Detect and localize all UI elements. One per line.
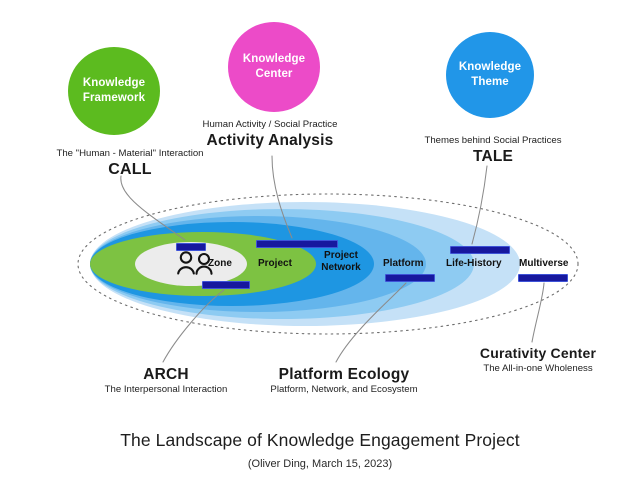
- connector-bar-multiverse[interactable]: [518, 274, 568, 282]
- connector-bar-platform[interactable]: [385, 274, 435, 282]
- zone-label-project-network: Project Network: [314, 250, 368, 273]
- callout-activity-analysis: Human Activity / Social Practice Activit…: [196, 119, 344, 151]
- callout-tale: Themes behind Social Practices TALE: [412, 135, 574, 167]
- bubble-label-line2: Theme: [471, 75, 509, 90]
- zone-label-zone: Zone: [208, 258, 232, 270]
- connector-bar-arch[interactable]: [202, 281, 250, 289]
- figure-credit: (Oliver Ding, March 15, 2023): [0, 458, 640, 470]
- callout-tale-title: TALE: [412, 147, 574, 166]
- callout-arch-title: ARCH: [92, 365, 240, 384]
- bubble-label-line1: Knowledge: [243, 52, 305, 67]
- bubble-label-line2: Framework: [83, 91, 145, 106]
- bubble-knowledge-center[interactable]: Knowledge Center: [228, 22, 320, 112]
- diagram-canvas: Knowledge Framework Knowledge Center Kno…: [0, 0, 640, 495]
- bubble-knowledge-framework[interactable]: Knowledge Framework: [68, 47, 160, 135]
- callout-arch-subtitle: The Interpersonal Interaction: [92, 384, 240, 396]
- connector-bar-call[interactable]: [176, 243, 206, 251]
- zone-label-project: Project: [258, 258, 292, 270]
- callout-platform-subtitle: Platform, Network, and Ecosystem: [262, 384, 426, 396]
- bubble-label-line1: Knowledge: [83, 76, 145, 91]
- callout-curativity-subtitle: The All-in-one Wholeness: [456, 363, 620, 375]
- callout-activity-subtitle: Human Activity / Social Practice: [196, 119, 344, 131]
- bubble-label-line2: Center: [255, 67, 292, 82]
- callout-activity-title: Activity Analysis: [196, 131, 344, 150]
- leader-line-curativity: [532, 283, 544, 342]
- callout-call-subtitle: The "Human - Material" Interaction: [42, 148, 218, 160]
- callout-platform-ecology: Platform Ecology Platform, Network, and …: [262, 365, 426, 397]
- callout-tale-subtitle: Themes behind Social Practices: [412, 135, 574, 147]
- figure-caption: The Landscape of Knowledge Engagement Pr…: [0, 430, 640, 470]
- callout-curativity-title: Curativity Center: [456, 345, 620, 363]
- callout-call: The "Human - Material" Interaction CALL: [42, 148, 218, 180]
- connector-bar-activity[interactable]: [256, 240, 338, 248]
- connector-bar-tale[interactable]: [450, 246, 510, 254]
- callout-curativity-center: Curativity Center The All-in-one Wholene…: [456, 345, 620, 375]
- zone-label-platform: Platform: [383, 258, 424, 270]
- figure-title: The Landscape of Knowledge Engagement Pr…: [0, 430, 640, 451]
- bubble-label-line1: Knowledge: [459, 60, 521, 75]
- zone-label-life-history: Life-History: [446, 258, 502, 270]
- callout-platform-title: Platform Ecology: [262, 365, 426, 384]
- zone-label-multiverse: Multiverse: [519, 258, 568, 270]
- callout-arch: ARCH The Interpersonal Interaction: [92, 365, 240, 397]
- callout-call-title: CALL: [42, 160, 218, 180]
- bubble-knowledge-theme[interactable]: Knowledge Theme: [446, 32, 534, 118]
